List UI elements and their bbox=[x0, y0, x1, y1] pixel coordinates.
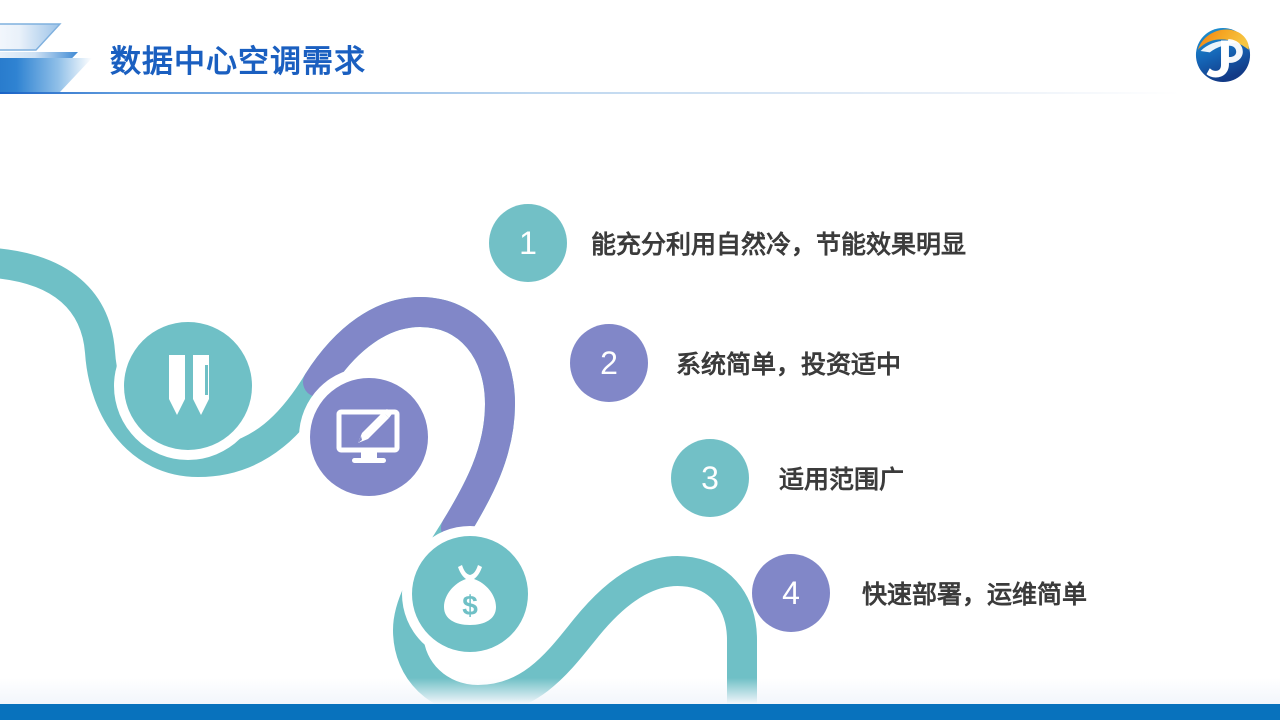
bullet-item-3[interactable]: 3 适用范围广 bbox=[671, 439, 904, 517]
bullet-number-1: 1 bbox=[489, 204, 567, 282]
bottom-gradient-wash bbox=[0, 678, 1280, 704]
bullet-number-4: 4 bbox=[752, 554, 830, 632]
header-divider bbox=[0, 92, 1180, 94]
page-title: 数据中心空调需求 bbox=[110, 36, 366, 81]
bottom-bar bbox=[0, 704, 1280, 720]
bullet-text-2: 系统简单，投资适中 bbox=[676, 345, 901, 381]
bullet-text-4: 快速部署，运维简单 bbox=[862, 575, 1087, 611]
slide-canvas: 数据中心空调需求 bbox=[0, 0, 1280, 720]
pens-icon bbox=[124, 322, 252, 450]
bullet-item-2[interactable]: 2 系统简单，投资适中 bbox=[570, 324, 901, 402]
money-bag-icon: $ bbox=[412, 536, 528, 652]
bullet-item-4[interactable]: 4 快速部署，运维简单 bbox=[752, 554, 1087, 632]
slide-header: 数据中心空调需求 bbox=[0, 0, 1280, 95]
bullet-number-2: 2 bbox=[570, 324, 648, 402]
bullet-text-3: 适用范围广 bbox=[779, 460, 904, 496]
company-globe-logo bbox=[1190, 22, 1256, 88]
bullet-text-1: 能充分利用自然冷，节能效果明显 bbox=[591, 225, 966, 261]
bullet-item-1[interactable]: 1 能充分利用自然冷，节能效果明显 bbox=[489, 204, 966, 282]
bullet-number-3: 3 bbox=[671, 439, 749, 517]
svg-text:$: $ bbox=[462, 590, 478, 621]
monitor-pencil-icon bbox=[310, 378, 428, 496]
